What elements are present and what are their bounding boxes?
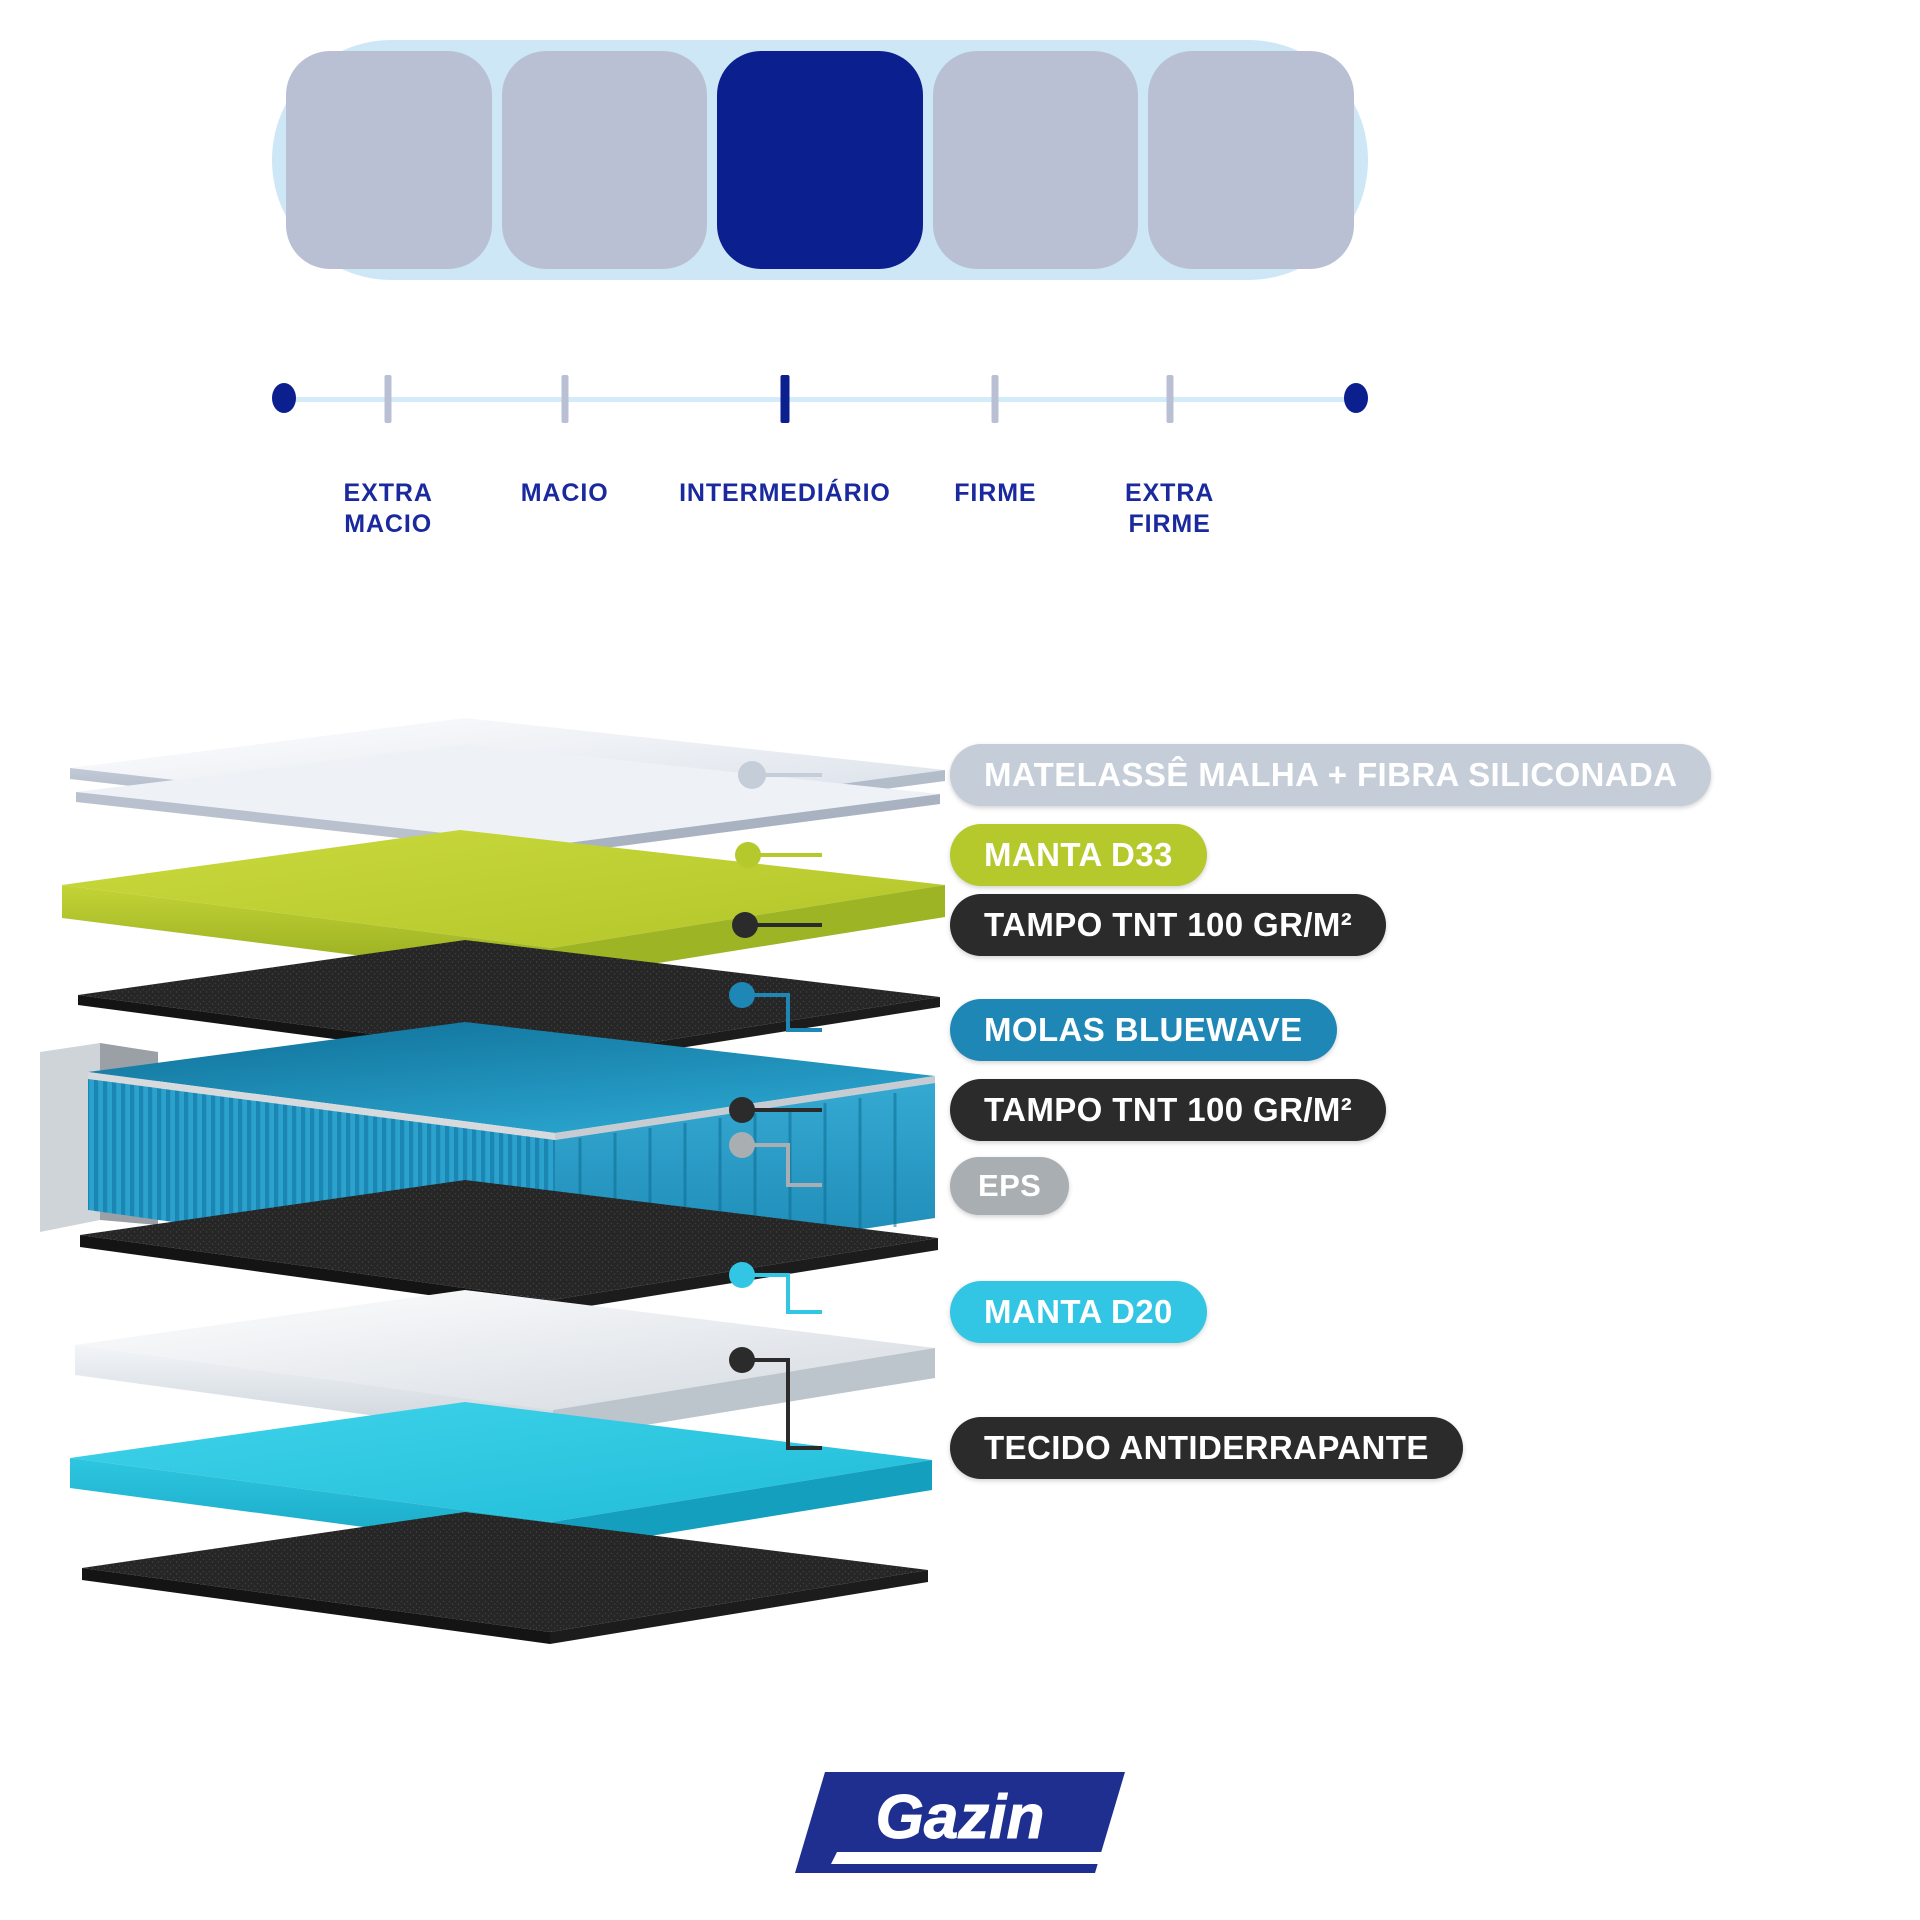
firmness-cell-extra-macio[interactable]: [286, 51, 492, 269]
callout-tampo-tnt-top[interactable]: TAMPO TNT 100 GR/M²: [950, 894, 1386, 956]
firmness-label-1[interactable]: MACIO: [521, 478, 609, 509]
callout-molas-bluewave[interactable]: MOLAS BLUEWAVE: [950, 999, 1337, 1061]
firmness-tick-4[interactable]: [1166, 375, 1173, 423]
mattress-layer-diagram: MATELASSÊ MALHA + FIBRA SILICONADA MANTA…: [0, 640, 1920, 1760]
firmness-label-row: EXTRA MACIOMACIOINTERMEDIÁRIOFIRMEEXTRA …: [272, 478, 1368, 558]
firmness-tick-2[interactable]: [780, 375, 789, 423]
firmness-selector: EXTRA MACIOMACIOINTERMEDIÁRIOFIRMEEXTRA …: [0, 0, 1920, 620]
callout-list: MATELASSÊ MALHA + FIBRA SILICONADA MANTA…: [0, 640, 1920, 1760]
firmness-tick-1[interactable]: [561, 375, 568, 423]
firmness-cell-intermediario[interactable]: [717, 51, 923, 269]
callout-manta-d33[interactable]: MANTA D33: [950, 824, 1207, 886]
callout-manta-d20[interactable]: MANTA D20: [950, 1281, 1207, 1343]
callout-tampo-tnt-bottom[interactable]: TAMPO TNT 100 GR/M²: [950, 1079, 1386, 1141]
firmness-cell-firme[interactable]: [933, 51, 1139, 269]
callout-eps[interactable]: EPS: [950, 1157, 1069, 1215]
firmness-tick-row: [272, 375, 1368, 425]
firmness-label-0[interactable]: EXTRA MACIO: [344, 478, 433, 541]
callout-tecido-antiderrapante[interactable]: TECIDO ANTIDERRAPANTE: [950, 1417, 1463, 1479]
firmness-cell-macio[interactable]: [502, 51, 708, 269]
firmness-label-2[interactable]: INTERMEDIÁRIO: [679, 478, 891, 509]
firmness-tick-3[interactable]: [992, 375, 999, 423]
firmness-label-3[interactable]: FIRME: [954, 478, 1036, 509]
gazin-logo-text: Gazin: [876, 1783, 1045, 1852]
firmness-cell-extra-firme[interactable]: [1148, 51, 1354, 269]
firmness-cell-row: [272, 40, 1368, 280]
callout-matelasse[interactable]: MATELASSÊ MALHA + FIBRA SILICONADA: [950, 744, 1711, 806]
gazin-logo: Gazin: [795, 1760, 1125, 1885]
firmness-label-4[interactable]: EXTRA FIRME: [1125, 478, 1214, 541]
firmness-tick-0[interactable]: [385, 375, 392, 423]
